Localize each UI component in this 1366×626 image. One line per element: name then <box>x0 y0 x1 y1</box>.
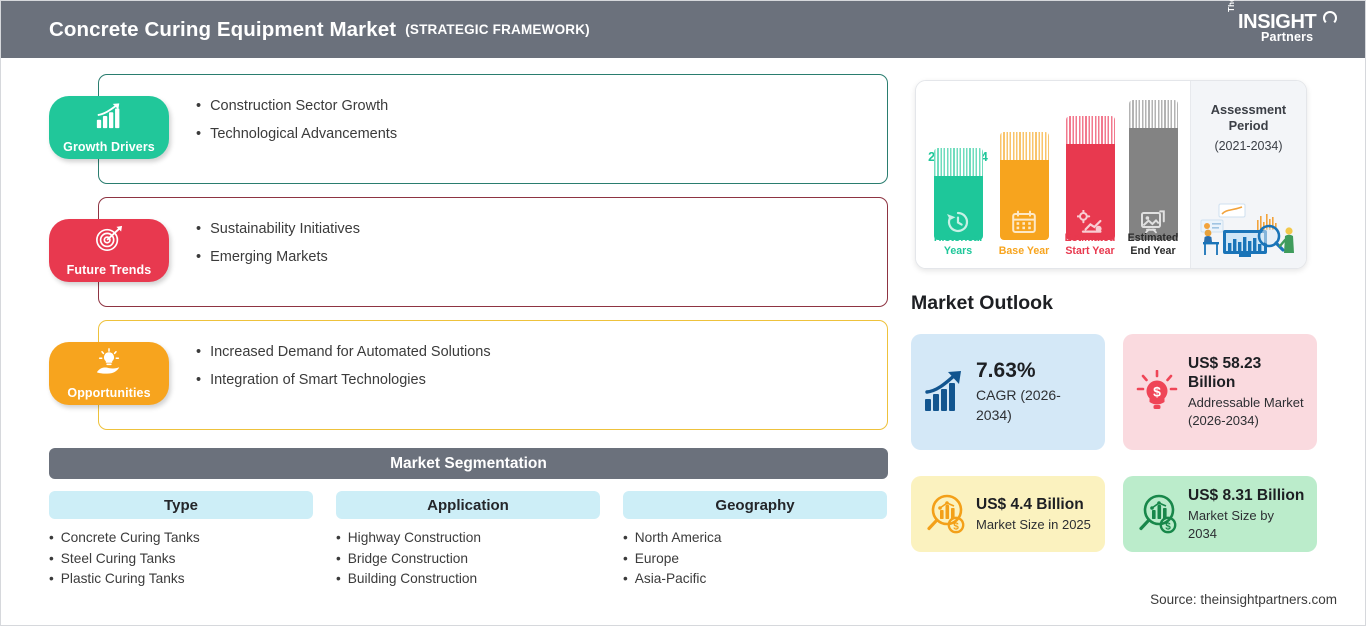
badge-future-trends: Future Trends <box>49 219 169 282</box>
outlook-card-label: CAGR (2026-2034) <box>976 385 1093 425</box>
column-header: Type <box>49 491 313 519</box>
segmentation-column-geography: Geography North America Europe Asia-Paci… <box>623 491 887 590</box>
outlook-card-addressable-market: $ US$ 58.23 Billion Addressable Market (… <box>1123 334 1317 450</box>
bar-stripe-top <box>1129 100 1178 128</box>
svg-text:$: $ <box>953 522 959 533</box>
business-analytics-illustration <box>1197 198 1301 260</box>
svg-text:$: $ <box>1153 384 1161 400</box>
market-outlook-title: Market Outlook <box>911 292 1053 315</box>
list-item: Bridge Construction <box>336 549 600 570</box>
bar-stripe-top <box>934 148 983 176</box>
badge-label: Growth Drivers <box>63 141 155 154</box>
bar-caption: Base Year <box>992 245 1056 258</box>
insight-partners-logo: The INSIGHT Partners <box>1227 10 1337 50</box>
bar-caption: Estimated Start Year <box>1058 232 1122 258</box>
outlook-card-value: US$ 58.23 Billion <box>1188 354 1305 392</box>
bar-caption: Estimated End Year <box>1121 232 1185 258</box>
bar-caption: Historical Years <box>926 232 990 258</box>
list-item: Emerging Markets <box>196 243 887 271</box>
outlook-card-label: Market Size in 2025 <box>976 516 1093 534</box>
assessment-period-panel: 2021-2024Historical Years2025Base Year20… <box>915 80 1307 269</box>
column-header: Geography <box>623 491 887 519</box>
magnifier-bars-dollar-icon: $ <box>923 492 967 536</box>
source-text: Source: theinsightpartners.com <box>1150 592 1337 607</box>
list-item: Sustainability Initiatives <box>196 215 887 243</box>
list-item: Construction Sector Growth <box>196 92 887 120</box>
assessment-title: Assessment Period <box>1191 102 1306 134</box>
column-header: Application <box>336 491 600 519</box>
outlook-card-label: Market Size by 2034 <box>1188 507 1305 543</box>
list-item: Concrete Curing Tanks <box>49 528 313 549</box>
list-item: Integration of Smart Technologies <box>196 366 887 394</box>
list-item: Building Construction <box>336 569 600 590</box>
segmentation-column-application: Application Highway Construction Bridge … <box>336 491 600 590</box>
assessment-bar-chart: 2021-2024Historical Years2025Base Year20… <box>916 81 1192 268</box>
bar-stripe-top <box>1000 132 1049 160</box>
outlook-card-value: US$ 4.4 Billion <box>976 495 1093 514</box>
list-item: North America <box>623 528 887 549</box>
badge-growth-drivers: Growth Drivers <box>49 96 169 159</box>
outlook-card-label: Addressable Market (2026-2034) <box>1188 394 1305 430</box>
history-clock-icon <box>945 210 971 234</box>
logo-ring-icon <box>1323 11 1337 25</box>
page-title: Concrete Curing Equipment Market <box>49 18 396 42</box>
pillar-list-opportunities: Increased Demand for Automated Solutions… <box>99 321 887 394</box>
outlook-card-market-size-2034: $ US$ 8.31 Billion Market Size by 2034 <box>1123 476 1317 552</box>
column-list: Highway Construction Bridge Construction… <box>336 528 600 590</box>
pillar-list-future-trends: Sustainability Initiatives Emerging Mark… <box>99 198 887 271</box>
column-list: Concrete Curing Tanks Steel Curing Tanks… <box>49 528 313 590</box>
outlook-card-text: US$ 8.31 Billion Market Size by 2034 <box>1188 486 1305 543</box>
page-header: Concrete Curing Equipment Market (STRATE… <box>1 1 1365 58</box>
magnifier-bars-dollar-icon: $ <box>1135 492 1179 536</box>
badge-label: Future Trends <box>67 264 152 277</box>
infographic-page: Concrete Curing Equipment Market (STRATE… <box>0 0 1366 626</box>
gear-analytics-icon <box>1077 210 1103 234</box>
segmentation-column-type: Type Concrete Curing Tanks Steel Curing … <box>49 491 313 590</box>
badge-label: Opportunities <box>67 387 150 400</box>
list-item: Steel Curing Tanks <box>49 549 313 570</box>
outlook-card-value: US$ 8.31 Billion <box>1188 486 1305 505</box>
lightbulb-dollar-icon: $ <box>1135 370 1179 414</box>
pillar-box-opportunities: Increased Demand for Automated Solutions… <box>98 320 888 430</box>
pillar-box-growth-drivers: Construction Sector Growth Technological… <box>98 74 888 184</box>
bar-stripe-top <box>1066 116 1115 144</box>
logo-partners-text: Partners <box>1261 30 1313 44</box>
image-monitor-icon <box>1140 210 1166 234</box>
assessment-period-label-area: Assessment Period (2021-2034) <box>1190 81 1306 268</box>
outlook-card-text: US$ 4.4 Billion Market Size in 2025 <box>976 495 1093 534</box>
outlook-card-text: US$ 58.23 Billion Addressable Market (20… <box>1188 354 1305 430</box>
calendar-icon <box>1011 210 1037 234</box>
list-item: Increased Demand for Automated Solutions <box>196 338 887 366</box>
outlook-card-cagr: 7.63% CAGR (2026-2034) <box>911 334 1105 450</box>
outlook-card-value: 7.63% <box>976 359 1036 382</box>
list-item: Europe <box>623 549 887 570</box>
assessment-title-line2: Period <box>1191 118 1306 134</box>
badge-opportunities: Opportunities <box>49 342 169 405</box>
list-item: Highway Construction <box>336 528 600 549</box>
page-subtitle: (STRATEGIC FRAMEWORK) <box>405 22 590 37</box>
logo-the-text: The <box>1227 0 1236 12</box>
outlook-card-market-size-2025: $ US$ 4.4 Billion Market Size in 2025 <box>911 476 1105 552</box>
bar-chart-growth-icon <box>94 102 124 130</box>
pillar-box-future-trends: Sustainability Initiatives Emerging Mark… <box>98 197 888 307</box>
list-item: Technological Advancements <box>196 120 887 148</box>
pillar-list-growth-drivers: Construction Sector Growth Technological… <box>99 75 887 148</box>
outlook-card-text: 7.63% CAGR (2026-2034) <box>976 359 1093 425</box>
list-item: Plastic Curing Tanks <box>49 569 313 590</box>
column-list: North America Europe Asia-Pacific <box>623 528 887 590</box>
lightbulb-hand-icon <box>94 348 124 376</box>
assessment-title-line1: Assessment <box>1191 102 1306 118</box>
target-dartboard-icon <box>94 225 124 253</box>
svg-text:$: $ <box>1165 522 1171 533</box>
assessment-range: (2021-2034) <box>1191 139 1306 153</box>
market-segmentation-header: Market Segmentation <box>49 448 888 479</box>
list-item: Asia-Pacific <box>623 569 887 590</box>
market-segmentation-columns: Type Concrete Curing Tanks Steel Curing … <box>49 491 888 590</box>
growth-chart-arrow-icon <box>923 370 967 414</box>
